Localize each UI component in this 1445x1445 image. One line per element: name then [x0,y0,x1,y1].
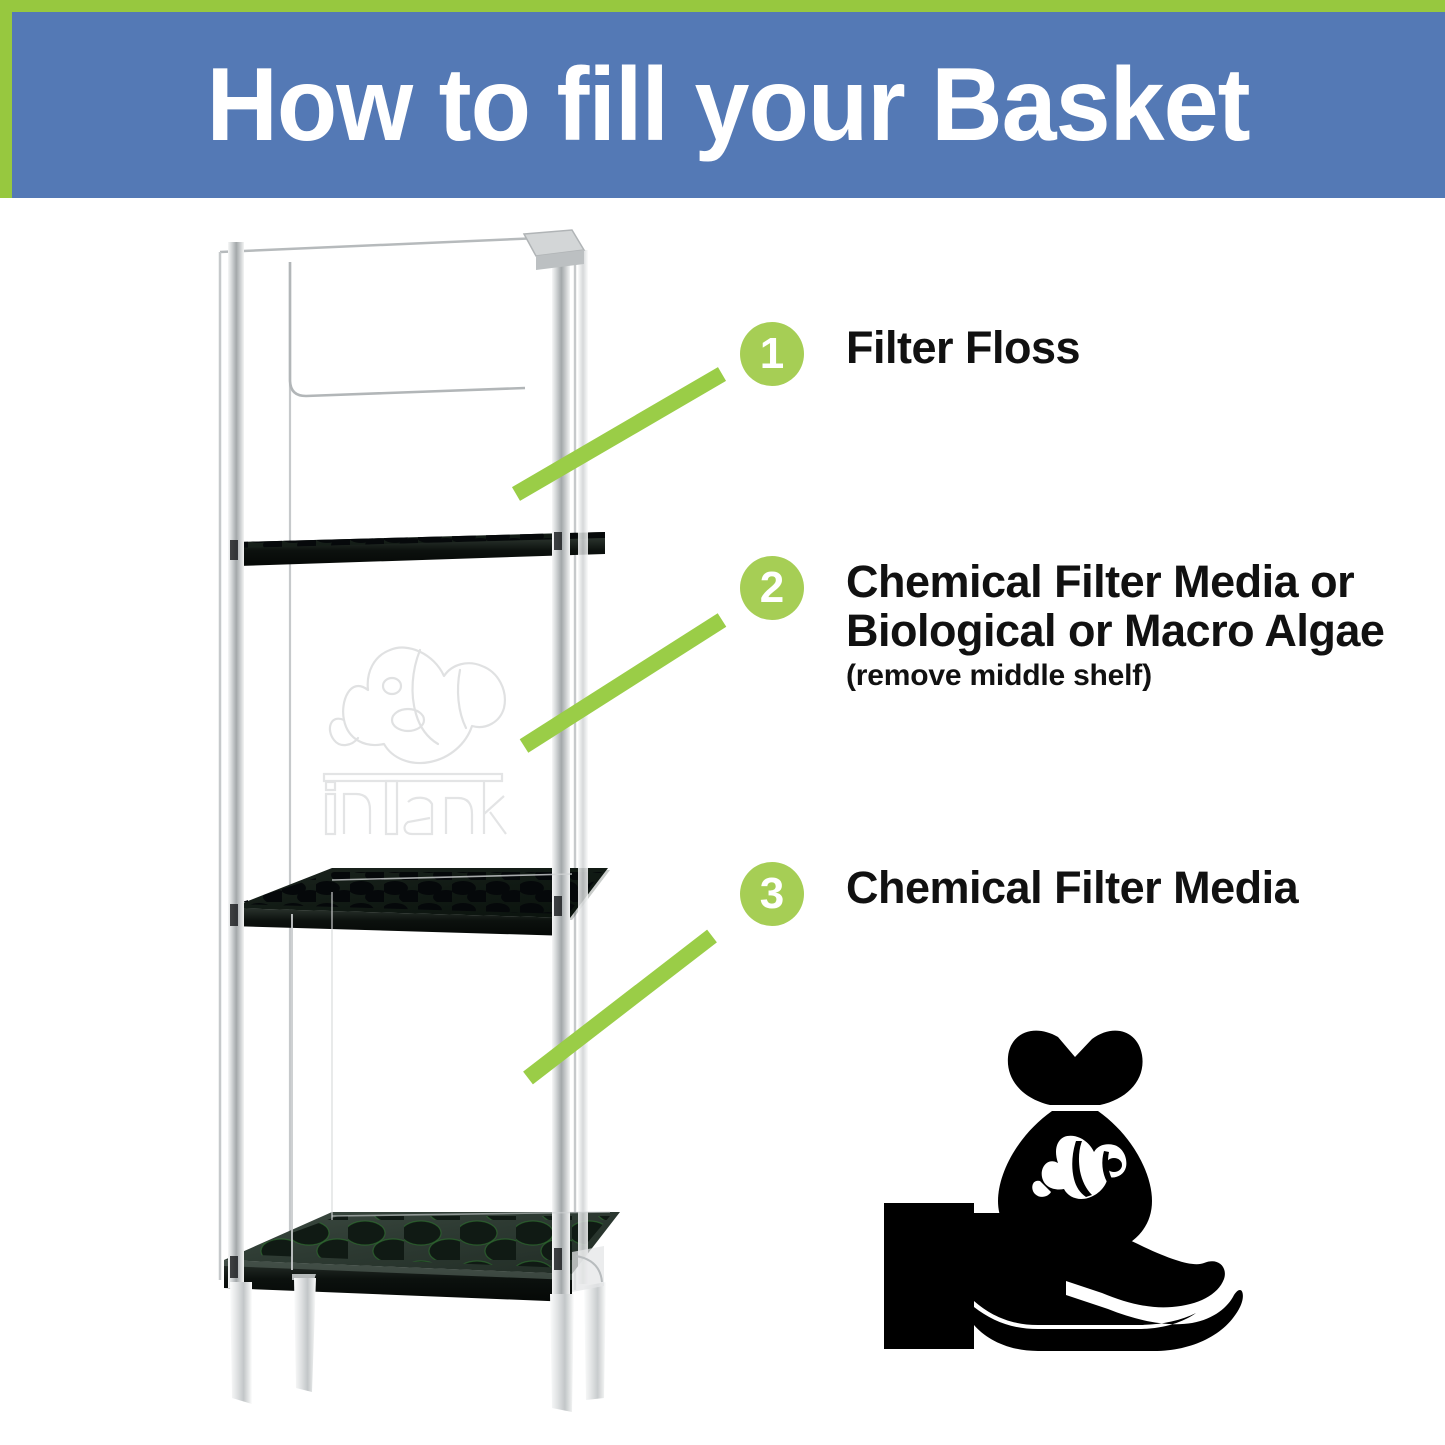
callout-badge-2: 2 [740,556,804,620]
callout-item-1: 1 Filter Floss [740,322,1080,386]
callout-badge-1: 1 [740,322,804,386]
callout-badge-3: 3 [740,862,804,926]
hand-holding-media-bag-icon [862,995,1262,1370]
header-banner-inner: How to fill your Basket [12,12,1445,198]
page-title: How to fill your Basket [207,53,1250,157]
callout-text-2: Chemical Filter Media or Biological or M… [846,556,1384,694]
header-banner: How to fill your Basket [0,0,1445,198]
infographic-page: How to fill your Basket [0,0,1445,1445]
callout-label-1: Filter Floss [846,324,1080,373]
basket-illustration [180,220,640,1420]
callout-label-2-line-1: Chemical Filter Media or [846,558,1384,607]
top-shelf [238,532,605,566]
callout-text-3: Chemical Filter Media [846,862,1298,913]
callout-text-1: Filter Floss [846,322,1080,373]
callout-label-2-line-2: Biological or Macro Algae [846,607,1384,656]
callout-label-3: Chemical Filter Media [846,864,1298,913]
callout-item-2: 2 Chemical Filter Media or Biological or… [740,556,1384,694]
callout-sub-2: (remove middle shelf) [846,659,1384,694]
intank-watermark [300,598,550,838]
callout-item-3: 3 Chemical Filter Media [740,862,1298,926]
